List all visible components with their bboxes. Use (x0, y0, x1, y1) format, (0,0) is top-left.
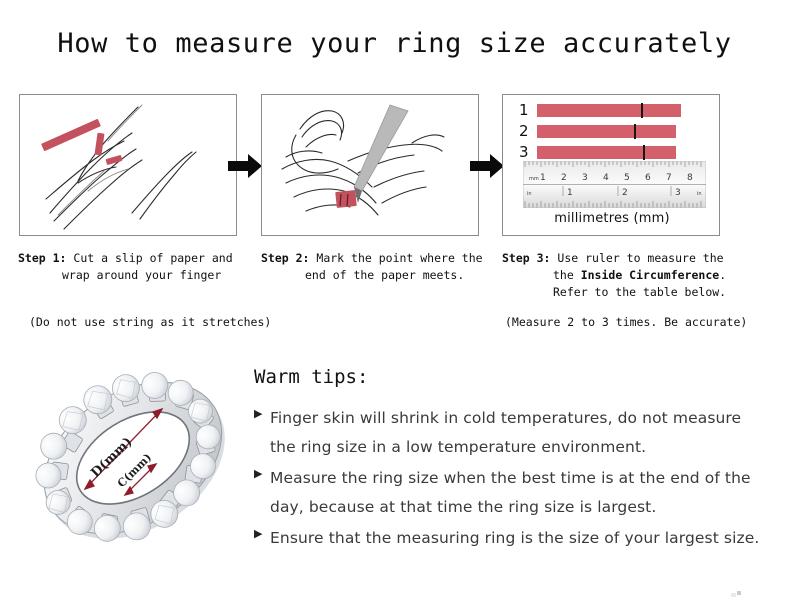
step-1-line-2: wrap around your finger (62, 268, 221, 282)
svg-text:5: 5 (624, 173, 630, 183)
step-3-emphasis-suffix: . (719, 268, 726, 282)
ring-size-guide-page: How to measure your ring size accurately (0, 0, 789, 606)
corner-artifact (731, 591, 741, 598)
tip-text-1: Finger skin will shrink in cold temperat… (270, 404, 766, 462)
step-3-caption: Step 3: Use ruler to measure the the Ins… (502, 250, 777, 301)
step-1-note: (Do not use string as it stretches) (29, 315, 271, 329)
svg-text:2: 2 (561, 173, 567, 183)
paper-strip-2 (537, 125, 676, 138)
svg-text:3: 3 (582, 173, 588, 183)
step-2-line-2: end of the paper meets. (305, 268, 464, 282)
measured-strip-row-1: 1 (519, 103, 681, 118)
warm-tips-heading: Warm tips: (254, 366, 368, 388)
paper-strip-3 (537, 146, 676, 159)
flow-arrow-2-icon (470, 152, 504, 180)
svg-text:1: 1 (567, 188, 573, 198)
strip-mark-3 (643, 145, 645, 160)
svg-text:1: 1 (540, 173, 546, 183)
step-3-line-2-prefix: the (553, 268, 581, 282)
svg-text:3: 3 (675, 188, 681, 198)
page-title: How to measure your ring size accurately (0, 28, 789, 59)
step-2-label: Step 2: (261, 251, 309, 265)
step-1-label: Step 1: (18, 251, 66, 265)
step-3-illustration-panel: 1 2 3 (502, 94, 720, 236)
tip-text-2: Measure the ring size when the best time… (270, 464, 766, 522)
svg-text:8: 8 (687, 173, 693, 183)
svg-text:7: 7 (666, 173, 672, 183)
hand-with-pen-marking-icon (262, 95, 478, 235)
triangle-bullet-icon: ▶ (254, 524, 270, 540)
step-3-label: Step 3: (502, 251, 550, 265)
tip-item: ▶ Measure the ring size when the best ti… (254, 464, 766, 522)
paper-strip-1 (537, 104, 681, 117)
ring-diagram: D(mm) C(mm) (22, 356, 244, 561)
svg-text:in: in (697, 191, 702, 197)
svg-text:4: 4 (603, 173, 609, 183)
strip-number-1: 1 (519, 103, 533, 118)
ruler-unit-label: millimetres (mm) (503, 211, 720, 226)
svg-text:in: in (527, 191, 532, 197)
strip-number-3: 3 (519, 145, 533, 160)
triangle-bullet-icon: ▶ (254, 404, 270, 420)
triangle-bullet-icon: ▶ (254, 464, 270, 480)
step-3-line-1: Use ruler to measure the (557, 251, 723, 265)
step-3-note: (Measure 2 to 3 times. Be accurate) (505, 315, 747, 329)
svg-text:mm: mm (529, 176, 539, 182)
hand-with-paper-strip-icon (20, 95, 236, 235)
warm-tips-list: ▶ Finger skin will shrink in cold temper… (254, 404, 766, 555)
svg-text:2: 2 (622, 188, 628, 198)
measured-strip-row-2: 2 (519, 124, 676, 139)
step-3-line-3: Refer to the table below. (553, 285, 726, 299)
ruler-icon: mm 12 34 56 78 in 12 3 in (523, 161, 706, 208)
tip-text-3: Ensure that the measuring ring is the si… (270, 524, 759, 553)
strip-mark-2 (634, 124, 636, 139)
step-1-line-1: Cut a slip of paper and (73, 251, 232, 265)
flow-arrow-1-icon (228, 152, 262, 180)
strip-mark-1 (641, 103, 643, 118)
diamond-eternity-ring-icon: D(mm) C(mm) (22, 356, 244, 561)
strip-number-2: 2 (519, 124, 533, 139)
tip-item: ▶ Finger skin will shrink in cold temper… (254, 404, 766, 462)
svg-text:6: 6 (645, 173, 651, 183)
measured-strip-row-3: 3 (519, 145, 676, 160)
step-1-illustration-panel (19, 94, 237, 236)
step-1-caption: Step 1: Cut a slip of paper and wrap aro… (18, 250, 258, 284)
step-2-caption: Step 2: Mark the point where the end of … (261, 250, 501, 284)
tip-item: ▶ Ensure that the measuring ring is the … (254, 524, 766, 553)
step-2-illustration-panel (261, 94, 479, 236)
step-2-line-1: Mark the point where the (316, 251, 482, 265)
step-3-emphasis: Inside Circumference (581, 268, 719, 282)
